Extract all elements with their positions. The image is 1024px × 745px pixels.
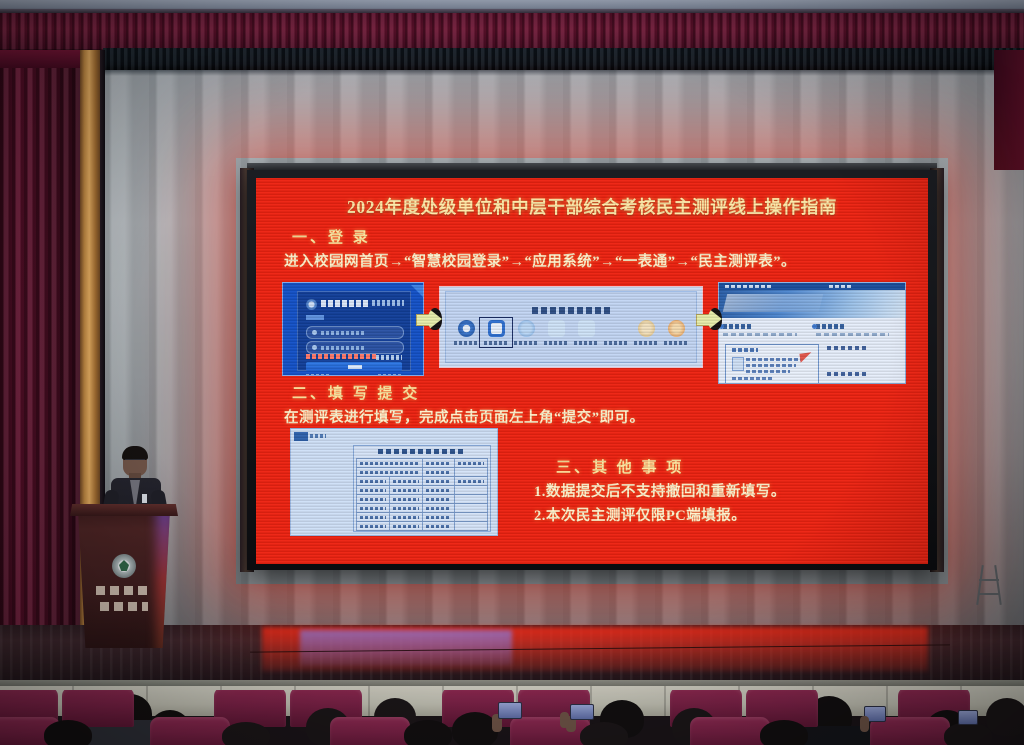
backdrop-valance-pleats xyxy=(103,48,1024,70)
audience xyxy=(0,690,1024,745)
arrow-login-to-apps xyxy=(416,308,442,330)
lock-icon xyxy=(312,345,317,350)
login-button-label xyxy=(348,365,362,369)
left-curtain xyxy=(0,50,82,650)
section-1-heading: 一、登 录 xyxy=(292,226,371,247)
university-logo-icon xyxy=(306,299,317,310)
portal-card-line1 xyxy=(746,358,802,361)
app-tile-8[interactable] xyxy=(662,320,690,345)
slide-title: 2024年度处级单位和中层干部综合考核民主测评线上操作指南 xyxy=(256,194,928,219)
section-1-body: 进入校园网首页→“智慧校园登录”→“应用系统”→“一表通”→“民主测评表”。 xyxy=(284,250,796,271)
arrow-apps-to-portal xyxy=(696,308,722,330)
password-field[interactable] xyxy=(306,341,404,354)
auditorium-scene: 2024年度处级单位和中层干部综合考核民主测评线上操作指南 一、登 录 进入校园… xyxy=(0,0,1024,745)
portal-left-line xyxy=(723,333,797,336)
arrow-head xyxy=(708,308,722,330)
portal-nav-right xyxy=(829,285,851,288)
left-curtain-valance xyxy=(0,50,82,68)
portal-dots-1 xyxy=(827,346,869,350)
phone-screen xyxy=(498,702,522,719)
red-flag-icon xyxy=(799,352,812,363)
research-app-icon xyxy=(548,320,565,337)
table-row xyxy=(357,513,488,522)
login-logo-subtext xyxy=(372,300,404,306)
audience-head xyxy=(222,722,270,745)
table-row xyxy=(357,495,488,504)
eval-table-screenshot xyxy=(290,428,498,536)
login-logo-text xyxy=(321,300,369,307)
eval-table xyxy=(356,458,488,531)
section-2-heading: 二、填 写 提 交 xyxy=(292,382,420,403)
audience-head xyxy=(944,722,992,745)
portal-column-left xyxy=(723,324,809,336)
podium-top-surface xyxy=(70,504,178,516)
led-screen: 2024年度处级单位和中层干部综合考核民主测评线上操作指南 一、登 录 进入校园… xyxy=(256,178,928,564)
seat xyxy=(690,717,770,745)
backdrop-valance xyxy=(103,48,1024,70)
screen-reflection-blue xyxy=(300,630,512,666)
portal-left-heading xyxy=(723,324,753,329)
username-placeholder xyxy=(321,331,365,335)
right-curtain-sliver xyxy=(994,50,1024,170)
login-footer-left-link[interactable] xyxy=(306,374,330,376)
audience-head xyxy=(404,720,452,745)
user-icon xyxy=(312,330,317,335)
portal-screenshot xyxy=(718,282,906,384)
seat xyxy=(510,717,590,745)
podium-text-line-1 xyxy=(96,586,152,595)
app-tile-1-label xyxy=(454,341,478,345)
audience-head xyxy=(44,720,92,745)
seat xyxy=(150,717,230,745)
podium-emblem xyxy=(112,554,136,578)
section-3-line-1: 1.数据提交后不支持撤回和重新填写。 xyxy=(534,480,786,501)
section-3-heading: 三、其 他 事 项 xyxy=(556,456,684,477)
app-tile-5-label xyxy=(574,341,598,345)
eval-logo-icon xyxy=(294,432,308,441)
asset-app-icon xyxy=(668,320,685,337)
app-tile-3[interactable] xyxy=(512,320,540,345)
app-tile-yibiaotong[interactable] xyxy=(482,320,510,345)
app-tile-8-label xyxy=(664,341,688,345)
app-grid-panel xyxy=(445,291,697,363)
password-placeholder xyxy=(321,346,365,350)
equipment-stand xyxy=(975,565,1005,607)
table-row xyxy=(357,468,488,477)
login-footer-right-link[interactable] xyxy=(378,374,402,376)
portal-app-icon xyxy=(458,320,475,337)
app-tile-5[interactable] xyxy=(572,320,600,345)
app-tile-7-label xyxy=(634,341,658,345)
login-warning-text xyxy=(306,354,376,359)
portal-card-line4 xyxy=(732,377,772,380)
app-tile-oa[interactable] xyxy=(602,320,630,345)
glasses-icon xyxy=(125,459,145,464)
raised-hand xyxy=(860,716,869,732)
podium xyxy=(78,510,170,648)
arrow-head xyxy=(428,308,442,330)
portal-dots-2 xyxy=(827,372,869,376)
app-tile-2-label xyxy=(484,341,508,345)
app-tile-6-label xyxy=(604,341,628,345)
table-row xyxy=(357,522,488,531)
portal-card-title xyxy=(732,348,758,352)
eval-logo-text xyxy=(310,434,326,438)
app-icon-badge xyxy=(491,323,502,334)
stage-valance xyxy=(0,13,1024,53)
login-panel xyxy=(297,291,411,371)
portal-card-thumb xyxy=(732,357,744,371)
app-grid-title xyxy=(446,301,696,319)
portal-section-icon-2 xyxy=(812,324,817,329)
remember-checkbox[interactable] xyxy=(376,355,402,360)
audience-head xyxy=(986,698,1024,736)
portal-nav-bar xyxy=(719,283,905,290)
section-3-line-2: 2.本次民主测评仅限PC端填报。 xyxy=(534,504,746,525)
phone-screen xyxy=(958,710,978,725)
username-field[interactable] xyxy=(306,326,404,339)
login-button[interactable] xyxy=(306,362,402,371)
table-row xyxy=(357,477,488,486)
valance-pleats xyxy=(0,13,1024,53)
portal-nav-items xyxy=(725,285,771,288)
app-tile-7[interactable] xyxy=(632,320,660,345)
portal-body xyxy=(719,318,905,383)
presenter-hair xyxy=(122,446,148,460)
academic-app-icon xyxy=(518,320,535,337)
yibiaotong-app-icon xyxy=(488,320,505,337)
app-grid-row xyxy=(452,320,690,364)
presenter-badge xyxy=(142,494,147,503)
table-row xyxy=(357,504,488,513)
portal-card-line2 xyxy=(746,364,796,367)
eval-table-caption xyxy=(378,449,465,454)
audience-head xyxy=(760,720,808,745)
oa-app-icon xyxy=(608,320,625,337)
eval-table-wrap xyxy=(353,445,491,532)
login-tab[interactable] xyxy=(306,315,324,320)
phone-screen xyxy=(570,704,594,720)
app-tile-4-label xyxy=(544,341,568,345)
finance-app-icon xyxy=(638,320,655,337)
hr-app-icon xyxy=(578,320,595,337)
portal-right-heading xyxy=(816,324,846,329)
seat xyxy=(330,717,410,745)
table-row xyxy=(357,459,488,468)
portal-right-line xyxy=(816,333,890,336)
left-curtain-pleats xyxy=(0,50,82,650)
section-2-body: 在测评表进行填写，完成点击页面左上角“提交”即可。 xyxy=(284,406,645,427)
portal-card-line3 xyxy=(746,370,790,373)
app-tile-4[interactable] xyxy=(542,320,570,345)
app-tile-3-label xyxy=(514,341,538,345)
table-row xyxy=(357,486,488,495)
podium-text-line-2 xyxy=(100,602,148,611)
portal-banner-image xyxy=(719,290,905,318)
app-tile-1[interactable] xyxy=(452,320,480,345)
portal-column-right xyxy=(816,324,902,336)
login-screenshot xyxy=(282,282,424,376)
portal-highlight-card[interactable] xyxy=(725,344,819,384)
audience-head xyxy=(580,722,628,745)
raised-hand xyxy=(560,712,569,728)
login-corner-ribbon xyxy=(411,285,423,297)
app-grid-screenshot xyxy=(439,286,703,368)
